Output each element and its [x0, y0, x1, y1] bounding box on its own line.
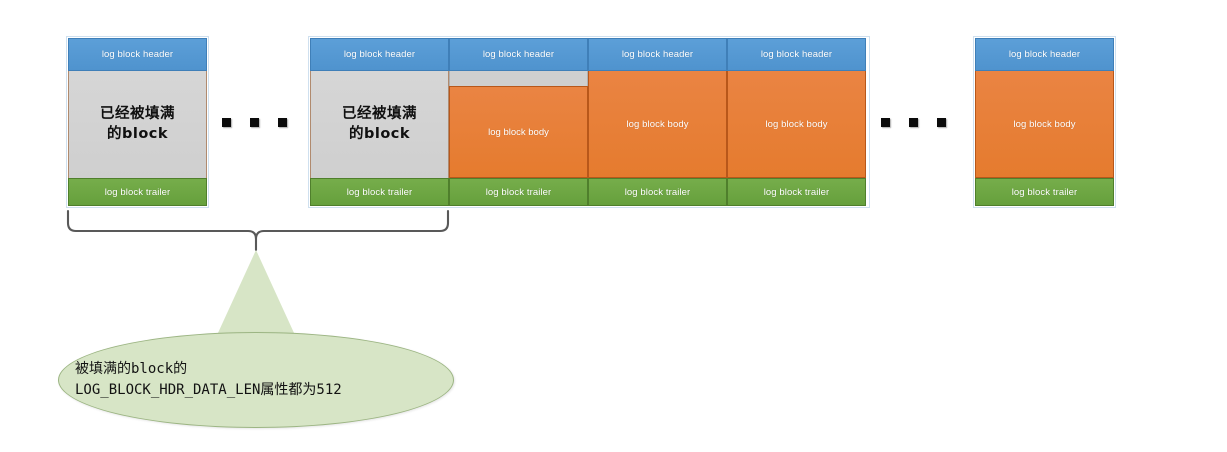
ellipsis-dot — [909, 118, 918, 127]
log-block-trailer: log block trailer — [588, 178, 727, 206]
group-middle: log block header 已经被填满 的block log block … — [310, 38, 866, 206]
log-block-header: log block header — [975, 38, 1114, 71]
log-block-trailer: log block trailer — [975, 178, 1114, 206]
log-block-header: log block header — [727, 38, 866, 71]
log-block-header: log block header — [68, 38, 207, 71]
filled-text-line2: 的block — [349, 125, 410, 145]
log-block-header: log block header — [449, 38, 588, 71]
ellipsis-left — [222, 118, 287, 127]
log-block-body-partial: log block body — [449, 71, 588, 178]
ellipsis-dot — [222, 118, 231, 127]
log-block-trailer: log block trailer — [727, 178, 866, 206]
log-block-body-label: log block body — [449, 86, 588, 178]
callout-line-2: LOG_BLOCK_HDR_DATA_LEN属性都为512 — [75, 380, 342, 401]
filled-text-line1: 已经被填满 — [342, 105, 417, 125]
callout-line-1: 被填满的block的 — [75, 359, 342, 380]
block-full-1[interactable]: log block header log block body log bloc… — [588, 38, 727, 206]
log-block-trailer: log block trailer — [310, 178, 449, 206]
log-block-header: log block header — [588, 38, 727, 71]
filled-blocks-brace — [68, 211, 448, 239]
ellipsis-dot — [937, 118, 946, 127]
callout-text: 被填满的block的 LOG_BLOCK_HDR_DATA_LEN属性都为512 — [59, 359, 342, 401]
block-filled-1[interactable]: log block header 已经被填满 的block log block … — [68, 38, 207, 206]
block-full-2[interactable]: log block header log block body log bloc… — [727, 38, 866, 206]
log-block-trailer: log block trailer — [68, 178, 207, 206]
block-full-3[interactable]: log block header log block body log bloc… — [975, 38, 1114, 206]
filled-block-label: 已经被填满 的block — [310, 71, 449, 178]
log-block-body: log block body — [588, 71, 727, 178]
block-filled-2[interactable]: log block header 已经被填满 的block log block … — [310, 38, 449, 206]
log-block-body: log block body — [727, 71, 866, 178]
group-right: log block header log block body log bloc… — [975, 38, 1114, 206]
ellipsis-dot — [250, 118, 259, 127]
ellipsis-dot — [881, 118, 890, 127]
unused-space-strip — [449, 71, 588, 86]
filled-text-line1: 已经被填满 — [100, 105, 175, 125]
group-left: log block header 已经被填满 的block log block … — [68, 38, 207, 206]
filled-text-line2: 的block — [107, 125, 168, 145]
log-block-trailer: log block trailer — [449, 178, 588, 206]
ellipsis-dot — [278, 118, 287, 127]
ellipsis-right — [881, 118, 946, 127]
log-block-header: log block header — [310, 38, 449, 71]
callout-bubble: 被填满的block的 LOG_BLOCK_HDR_DATA_LEN属性都为512 — [58, 332, 454, 428]
block-partial[interactable]: log block header log block body log bloc… — [449, 38, 588, 206]
filled-block-label: 已经被填满 的block — [68, 71, 207, 178]
log-block-body: log block body — [975, 71, 1114, 178]
diagram-canvas: log block header 已经被填满 的block log block … — [0, 0, 1227, 452]
